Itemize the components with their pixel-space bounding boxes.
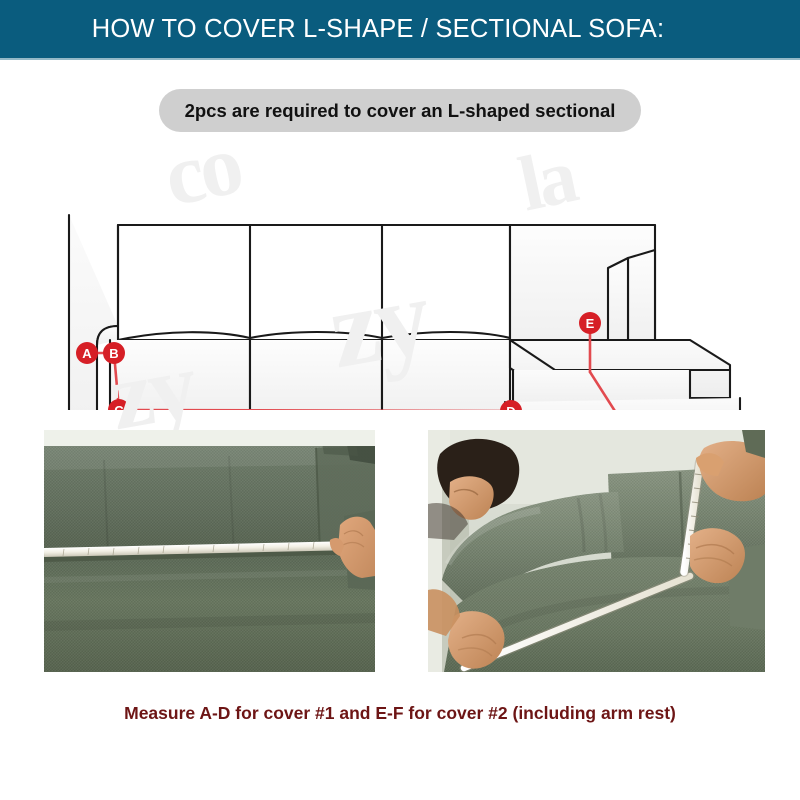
header-bar: HOW TO COVER L-SHAPE / SECTIONAL SOFA:	[0, 0, 800, 58]
subtitle-row: 2pcs are required to cover an L-shaped s…	[0, 89, 800, 132]
measurement-caption: Measure A-D for cover #1 and E-F for cov…	[124, 703, 676, 724]
caption-row: Measure A-D for cover #1 and E-F for cov…	[0, 703, 800, 724]
marker-label: E	[586, 316, 595, 331]
sofa-diagram: co zy la zy	[0, 140, 800, 410]
marker-label: A	[82, 346, 92, 361]
subtitle-pill: 2pcs are required to cover an L-shaped s…	[159, 89, 642, 132]
marker-e: E	[579, 312, 601, 334]
subtitle-text: 2pcs are required to cover an L-shaped s…	[185, 100, 616, 122]
instruction-graphic: HOW TO COVER L-SHAPE / SECTIONAL SOFA: 2…	[0, 0, 800, 800]
marker-label: D	[506, 404, 515, 410]
marker-a: A	[76, 342, 98, 364]
photo-measuring-seat-width	[44, 430, 375, 672]
page-title: HOW TO COVER L-SHAPE / SECTIONAL SOFA:	[92, 15, 665, 44]
header-divider	[0, 58, 800, 60]
photo-measuring-with-person	[428, 430, 765, 672]
